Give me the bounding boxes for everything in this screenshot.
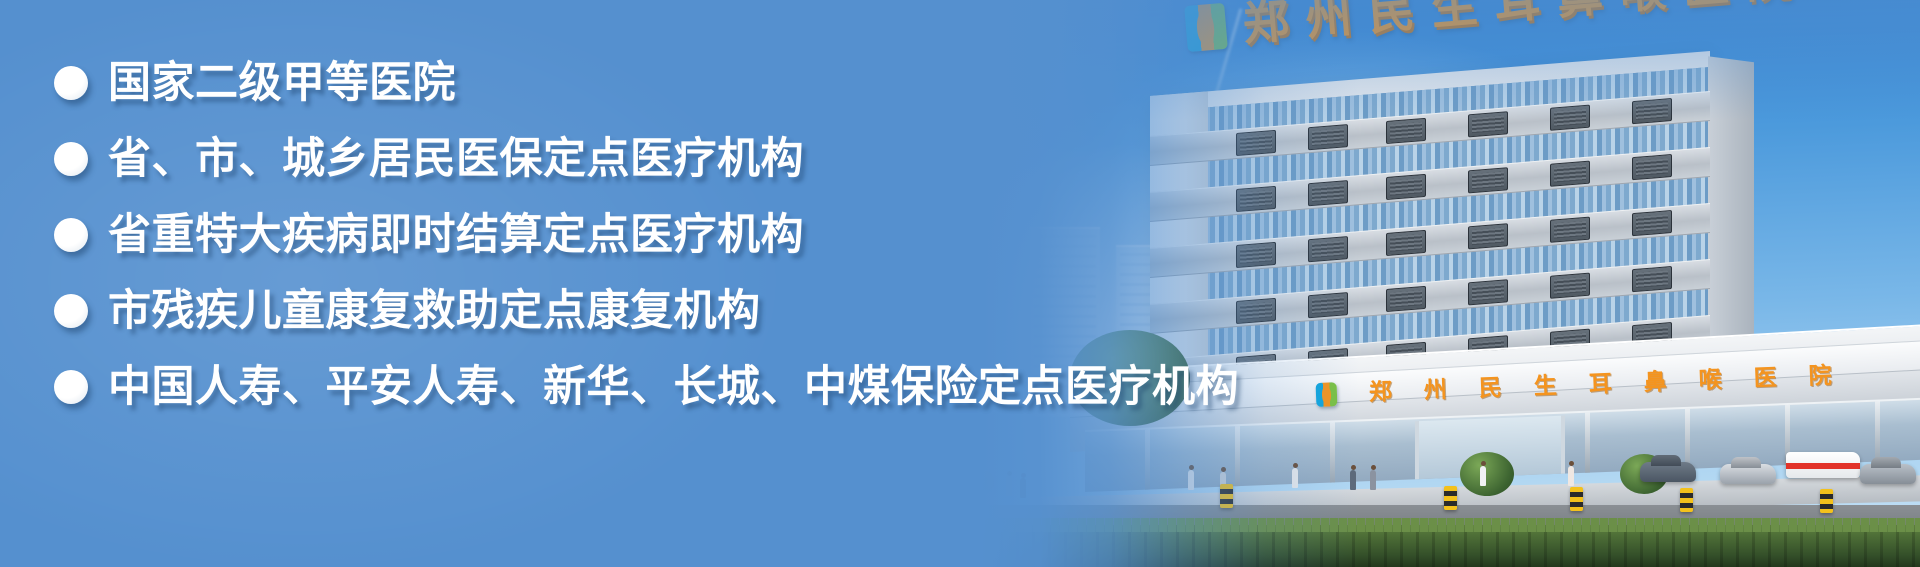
ac-unit	[1308, 236, 1348, 262]
list-item: 市残疾儿童康复救助定点康复机构	[54, 274, 1290, 348]
ambulance	[1786, 452, 1860, 478]
list-item: 国家二级甲等医院	[54, 46, 1290, 120]
credential-text: 省、市、城乡居民医保定点医疗机构	[108, 138, 804, 181]
bullet-dot-icon	[54, 370, 88, 404]
bullet-dot-icon	[54, 294, 88, 328]
ac-unit	[1308, 124, 1348, 150]
facade-sign-char: 医	[1753, 367, 1777, 391]
ac-unit	[1308, 180, 1348, 206]
ac-unit	[1386, 174, 1426, 200]
roof-sign-char: 州	[1304, 0, 1354, 42]
traffic-bollard	[1820, 489, 1833, 513]
ac-unit	[1308, 292, 1348, 318]
ac-unit	[1386, 286, 1426, 312]
facade-sign-char: 耳	[1588, 373, 1612, 397]
roof-sign-char: 鼻	[1555, 0, 1605, 21]
bullet-dot-icon	[54, 142, 88, 176]
parked-car	[1860, 464, 1916, 484]
ac-unit	[1468, 167, 1508, 193]
facade-sign-char: 喉	[1698, 369, 1722, 393]
roof-sign-char: 院	[1743, 0, 1793, 5]
credential-text: 中国人寿、平安人寿、新华、长城、中煤保险定点医疗机构	[108, 366, 1239, 409]
shopfront-mullion	[1875, 401, 1880, 461]
ac-unit	[1468, 223, 1508, 249]
traffic-bollard	[1570, 487, 1583, 511]
credentials-list: 国家二级甲等医院 省、市、城乡居民医保定点医疗机构 省重特大疾病即时结算定点医疗…	[0, 0, 1290, 567]
facade-sign-char: 鼻	[1643, 371, 1667, 395]
parked-car	[1640, 462, 1696, 482]
facade-sign-char: 院	[1808, 365, 1832, 389]
facade-sign-char: 郑	[1369, 381, 1393, 405]
ac-unit	[1468, 111, 1508, 137]
minsheng-logo-icon	[1316, 382, 1338, 407]
pedestrian	[1292, 468, 1298, 488]
bullet-dot-icon	[54, 66, 88, 100]
hospital-credentials-banner: 郑 州 民 生 耳 鼻 喉 医 院 郑 州 民 生 耳 鼻 喉 医 院	[0, 0, 1920, 567]
nurse-figure	[1568, 466, 1574, 486]
facade-sign-char: 州	[1424, 379, 1448, 403]
ac-unit	[1632, 98, 1672, 124]
parked-car	[1720, 464, 1776, 484]
tower-side-face	[1708, 56, 1754, 368]
roof-sign-char: 民	[1367, 0, 1417, 37]
roof-sign-char: 生	[1429, 0, 1479, 31]
list-item: 省重特大疾病即时结算定点医疗机构	[54, 198, 1290, 272]
roof-sign-char: 耳	[1492, 0, 1542, 26]
credential-text: 省重特大疾病即时结算定点医疗机构	[108, 214, 804, 257]
shopfront-mullion	[1585, 413, 1590, 473]
pedestrian	[1350, 470, 1356, 490]
roof-sign-char: 医	[1680, 0, 1730, 10]
ac-unit	[1550, 273, 1590, 299]
ac-unit	[1468, 279, 1508, 305]
ac-unit	[1386, 230, 1426, 256]
shopfront-mullion	[1330, 422, 1335, 482]
facade-sign-char: 生	[1533, 375, 1557, 399]
ac-unit	[1550, 161, 1590, 187]
pedestrian	[1370, 470, 1376, 490]
credential-text: 国家二级甲等医院	[108, 62, 456, 105]
list-item: 省、市、城乡居民医保定点医疗机构	[54, 122, 1290, 196]
ac-unit	[1632, 210, 1672, 236]
planter-shrub	[1460, 452, 1514, 496]
bullet-dot-icon	[54, 218, 88, 252]
ac-unit	[1632, 154, 1672, 180]
ac-unit	[1386, 118, 1426, 144]
pedestrian	[1480, 466, 1486, 486]
facade-sign-char: 民	[1478, 377, 1502, 401]
shopfront-mullion	[1685, 409, 1690, 469]
roof-sign-char: 喉	[1618, 0, 1668, 16]
traffic-bollard	[1444, 486, 1457, 510]
traffic-bollard	[1680, 488, 1693, 512]
ac-unit	[1550, 105, 1590, 131]
ac-unit	[1550, 217, 1590, 243]
credential-text: 市残疾儿童康复救助定点康复机构	[108, 290, 761, 333]
list-item: 中国人寿、平安人寿、新华、长城、中煤保险定点医疗机构	[54, 350, 1290, 424]
ac-unit	[1632, 266, 1672, 292]
